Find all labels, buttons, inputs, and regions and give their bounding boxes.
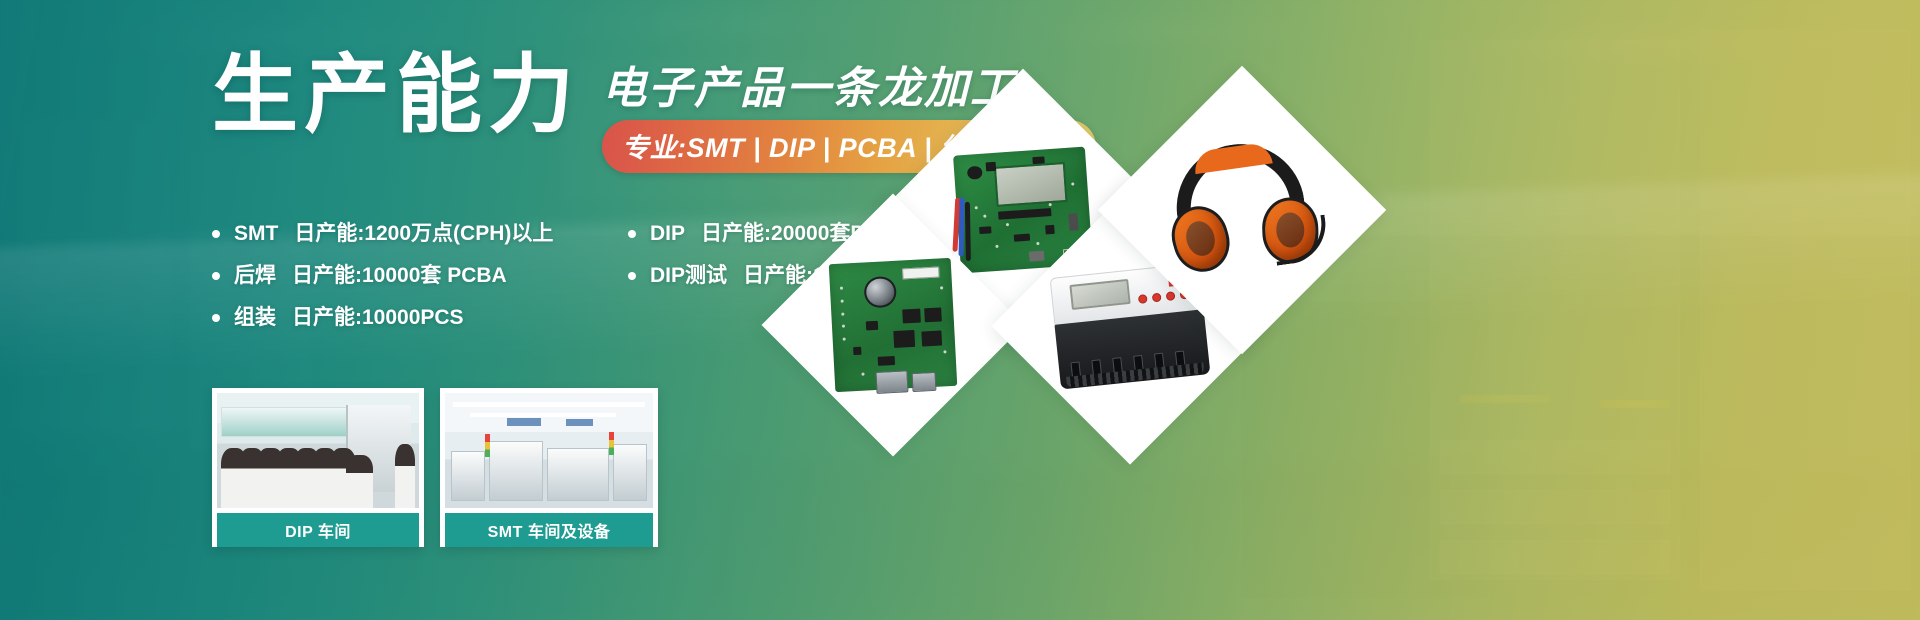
bullet-dot-icon <box>628 230 636 238</box>
orange-headphones-image <box>1159 134 1326 286</box>
capability-name: DIP测试 <box>650 265 727 286</box>
list-item: 组装 日产能:10000PCS <box>212 307 512 328</box>
pcb-with-ethernet-ports-image <box>829 258 958 392</box>
capability-name: DIP <box>650 223 685 244</box>
bullet-dot-icon <box>628 272 636 280</box>
photo-card-caption: DIP 车间 <box>217 513 419 547</box>
photo-card-smt[interactable]: SMT 车间及设备 <box>440 388 658 547</box>
smt-workshop-photo <box>445 393 653 508</box>
dip-workshop-photo <box>217 393 419 508</box>
production-capacity-banner: 生产能力 电子产品一条龙加工 专业:SMT | DIP | PCBA | 组装 … <box>0 0 1920 620</box>
capability-name: 组装 <box>234 307 276 328</box>
bullet-dot-icon <box>212 314 220 322</box>
capability-name: 后焊 <box>234 265 276 286</box>
photo-card-caption: SMT 车间及设备 <box>445 513 653 547</box>
workshop-photo-cards: DIP 车间 SMT 车间及设备 <box>212 388 658 547</box>
list-item: SMT 日产能:1200万点(CPH)以上 <box>212 223 512 244</box>
product-tile-headphones[interactable] <box>1098 66 1386 354</box>
capability-list-left: SMT 日产能:1200万点(CPH)以上 后焊 日产能:10000套 PCBA… <box>212 223 512 349</box>
list-item: 后焊 日产能:10000套 PCBA <box>212 265 512 286</box>
product-tile-pcb-ports[interactable] <box>761 193 1024 456</box>
photo-card-dip[interactable]: DIP 车间 <box>212 388 424 547</box>
capability-value: 日产能:10000PCS <box>292 307 464 328</box>
bullet-dot-icon <box>212 230 220 238</box>
capability-name: SMT <box>234 223 278 244</box>
page-title: 生产能力 <box>212 52 580 138</box>
bullet-dot-icon <box>212 272 220 280</box>
capability-value: 日产能:10000套 PCBA <box>292 265 507 286</box>
capability-value: 日产能:1200万点(CPH)以上 <box>294 223 553 244</box>
